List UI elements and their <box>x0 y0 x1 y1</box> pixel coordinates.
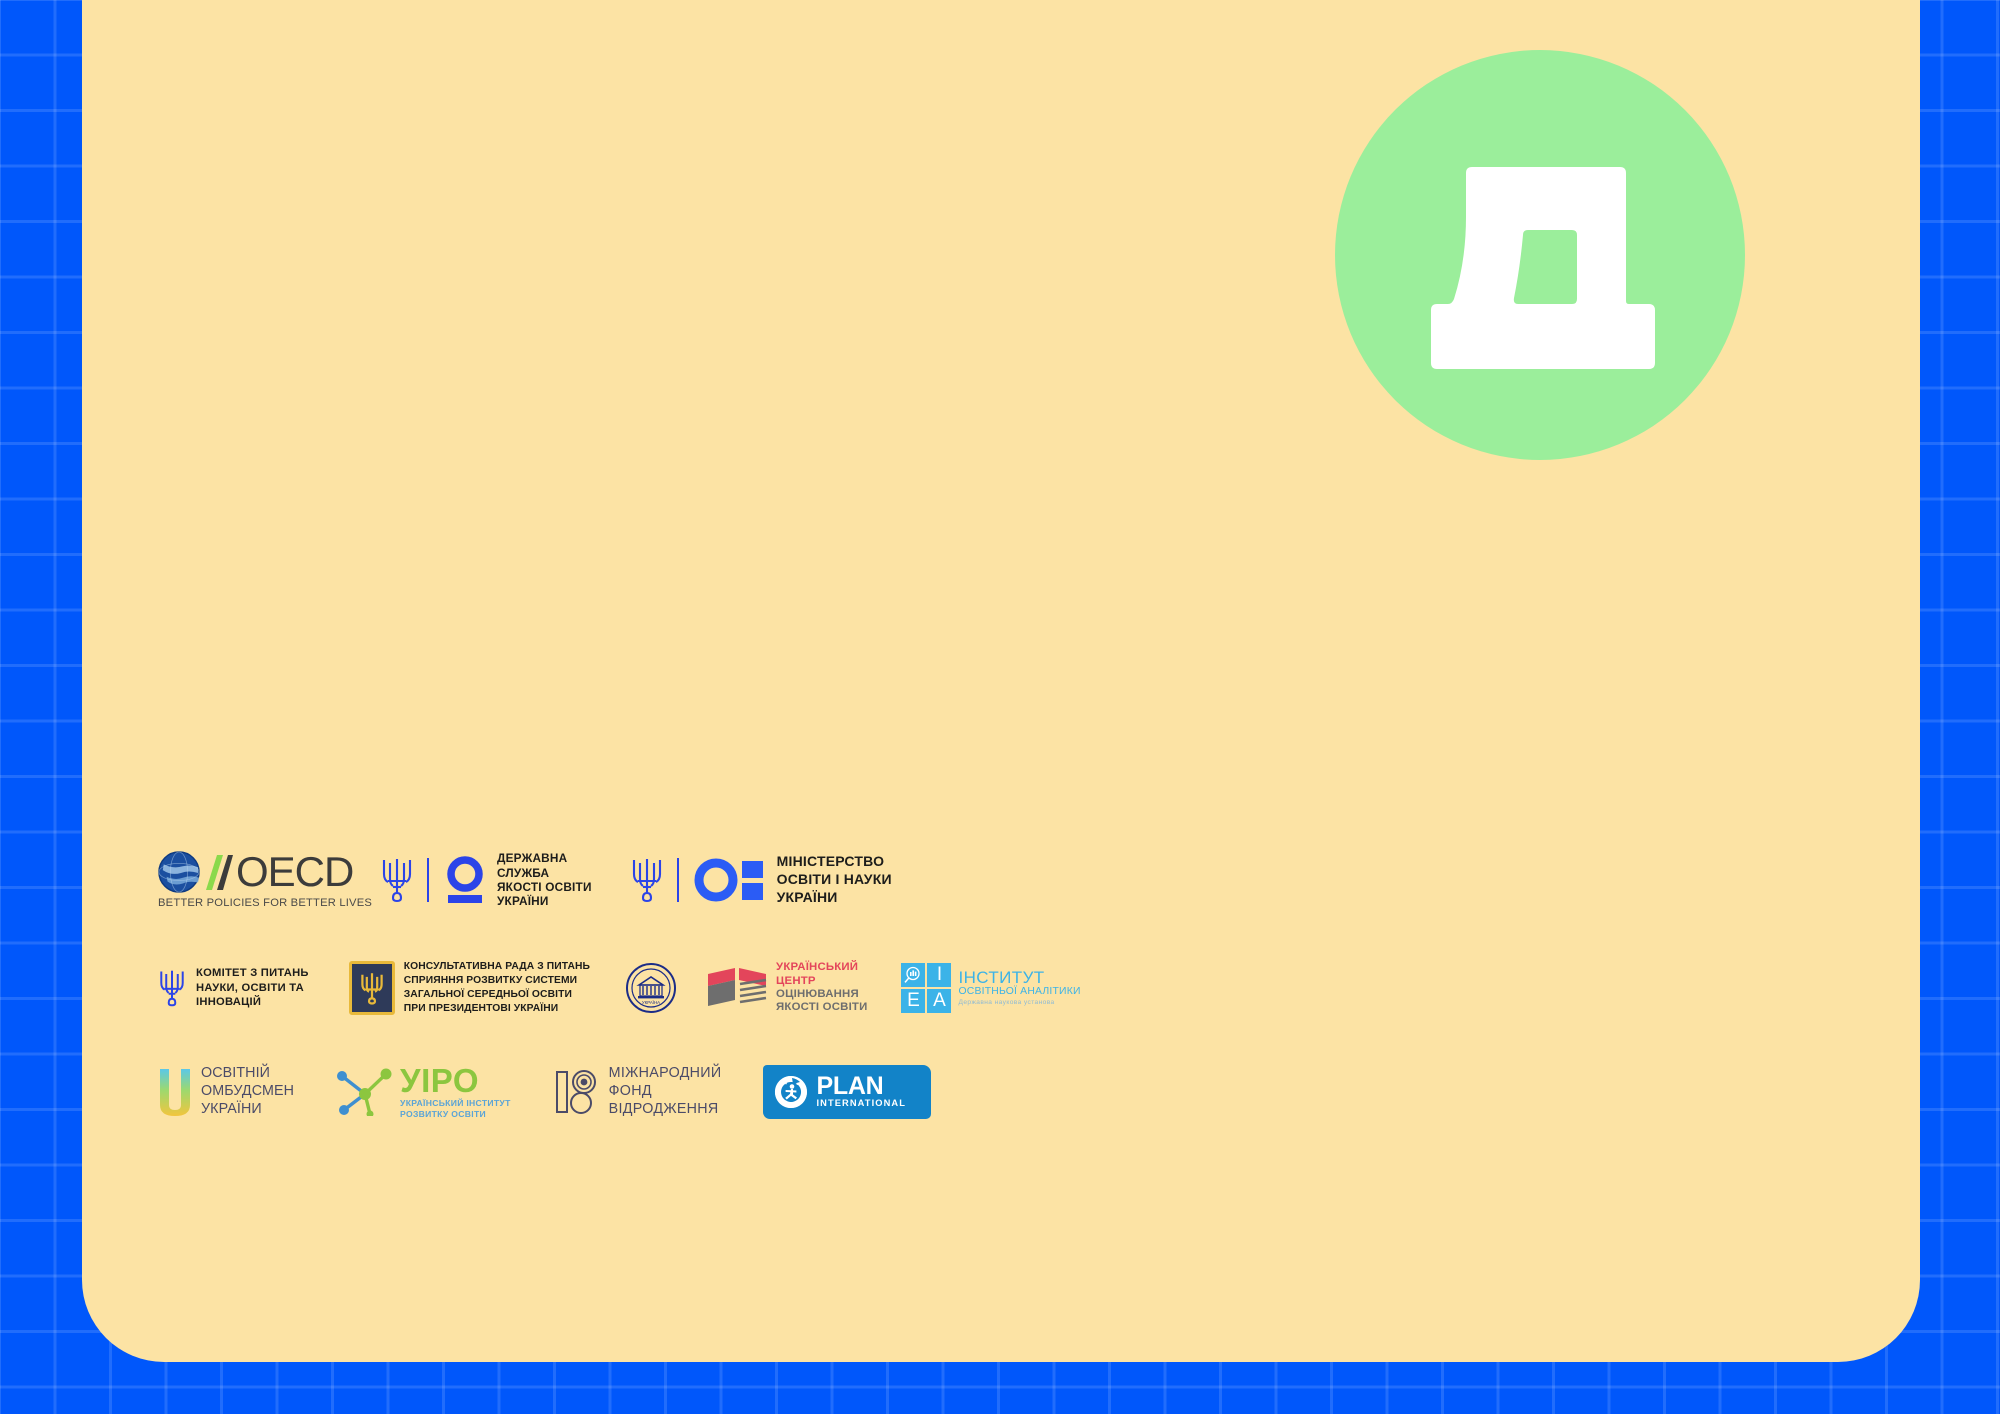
logo-committee[interactable]: КОМІТЕТ З ПИТАНЬ НАУКИ, ОСВІТИ ТА ІННОВА… <box>158 966 309 1010</box>
oecd-tagline: BETTER POLICIES FOR BETTER LIVES <box>158 897 372 909</box>
committee-label: КОМІТЕТ З ПИТАНЬ НАУКИ, ОСВІТИ ТА ІННОВА… <box>196 966 309 1010</box>
uceqa-label: УКРАЇНСЬКИЙ ЦЕНТР ОЦІНЮВАННЯ ЯКОСТІ ОСВІ… <box>776 961 867 1015</box>
logo-ombudsman[interactable]: ОСВІТНІЙ ОМБУДСМЕН УКРАЇНИ <box>158 1065 294 1118</box>
magnifier-chart-icon <box>904 966 922 984</box>
divider <box>427 858 429 902</box>
logo-uiro[interactable]: УІРО УКРАЇНСЬКИЙ ІНСТИТУТ РОЗВИТКУ ОСВІТ… <box>336 1065 511 1119</box>
trident-icon <box>158 969 186 1007</box>
trident-icon <box>380 857 414 903</box>
logo-uceqa[interactable]: УКРАЇНСЬКИЙ ЦЕНТР ОЦІНЮВАННЯ ЯКОСТІ ОСВІ… <box>706 961 867 1015</box>
trident-icon <box>630 857 664 903</box>
plan-child-icon <box>773 1074 809 1110</box>
iea-cell-a: А <box>927 989 951 1013</box>
logo-row-1: OECD BETTER POLICIES FOR BETTER LIVES <box>158 845 1258 915</box>
svg-text:УКРАЇНА: УКРАЇНА <box>642 1000 660 1005</box>
uiro-label: УІРО УКРАЇНСЬКИЙ ІНСТИТУТ РОЗВИТКУ ОСВІТ… <box>400 1065 511 1119</box>
oecd-wordmark: OECD <box>236 851 353 893</box>
mon-label: МІНІСТЕРСТВО ОСВІТИ І НАУКИ УКРАЇНИ <box>777 853 892 907</box>
logo-oecd[interactable]: OECD BETTER POLICIES FOR BETTER LIVES <box>158 851 344 909</box>
logo-ipo-seal[interactable]: УКРАЇНА <box>626 963 676 1013</box>
presidential-emblem-icon <box>349 961 395 1015</box>
cream-panel: OECD BETTER POLICIES FOR BETTER LIVES <box>82 0 1920 1362</box>
divider <box>677 858 679 902</box>
iea-cell-chart <box>901 963 925 987</box>
logo-row-3: ОСВІТНІЙ ОМБУДСМЕН УКРАЇНИ <box>158 1061 1258 1123</box>
iea-label: ІНСТИТУТ ОСВІТНЬОЇ АНАЛІТИКИ Державна на… <box>958 969 1080 1008</box>
seal-inner-icon: УКРАЇНА <box>629 966 673 1010</box>
irf-label: МІЖНАРОДНИЙ ФОНД ВІДРОДЖЕННЯ <box>609 1065 722 1118</box>
globe-icon <box>158 851 200 893</box>
irf-mark-icon <box>555 1069 599 1115</box>
plan-badge: PLAN INTERNATIONAL <box>763 1065 931 1119</box>
letter-d-glyph-icon <box>1335 50 1745 460</box>
logo-sqe[interactable]: ДЕРЖАВНА СЛУЖБА ЯКОСТІ ОСВІТИ УКРАЇНИ <box>380 851 592 909</box>
institute-seal-icon: УКРАЇНА <box>626 963 676 1013</box>
uiro-network-icon <box>336 1068 394 1116</box>
sqe-label: ДЕРЖАВНА СЛУЖБА ЯКОСТІ ОСВІТИ УКРАЇНИ <box>497 851 592 909</box>
letter-d-badge <box>1335 50 1745 460</box>
sqe-mark-icon <box>442 856 488 904</box>
oecd-swoosh-icon <box>203 851 233 893</box>
trident-gold-icon <box>359 971 385 1005</box>
plan-wordmark: PLAN INTERNATIONAL <box>816 1075 906 1110</box>
iea-cell-i: І <box>927 963 951 987</box>
open-book-icon <box>706 966 768 1010</box>
iea-cell-e: Е <box>901 989 925 1013</box>
ombudsman-label: ОСВІТНІЙ ОМБУДСМЕН УКРАЇНИ <box>201 1065 294 1118</box>
logo-iea[interactable]: І Е А ІНСТИТУТ ОСВІТНЬОЇ АНАЛІТИКИ Держа… <box>901 963 1080 1013</box>
consultative-council-label: КОНСУЛЬТАТИВНА РАДА З ПИТАНЬ СПРИЯННЯ РО… <box>404 960 590 1015</box>
ombudsman-mark-icon <box>158 1067 192 1117</box>
iea-mark-icon: І Е А <box>901 963 951 1013</box>
logo-row-2: КОМІТЕТ З ПИТАНЬ НАУКИ, ОСВІТИ ТА ІННОВА… <box>158 955 1258 1021</box>
logo-plan-international[interactable]: PLAN INTERNATIONAL <box>763 1065 931 1119</box>
logo-consultative-council[interactable]: КОНСУЛЬТАТИВНА РАДА З ПИТАНЬ СПРИЯННЯ РО… <box>349 960 590 1015</box>
logo-mon[interactable]: МІНІСТЕРСТВО ОСВІТИ І НАУКИ УКРАЇНИ <box>630 853 892 907</box>
logo-irf[interactable]: МІЖНАРОДНИЙ ФОНД ВІДРОДЖЕННЯ <box>555 1065 722 1118</box>
partner-logos: OECD BETTER POLICIES FOR BETTER LIVES <box>158 845 1258 1123</box>
mon-mark-icon <box>692 856 766 904</box>
